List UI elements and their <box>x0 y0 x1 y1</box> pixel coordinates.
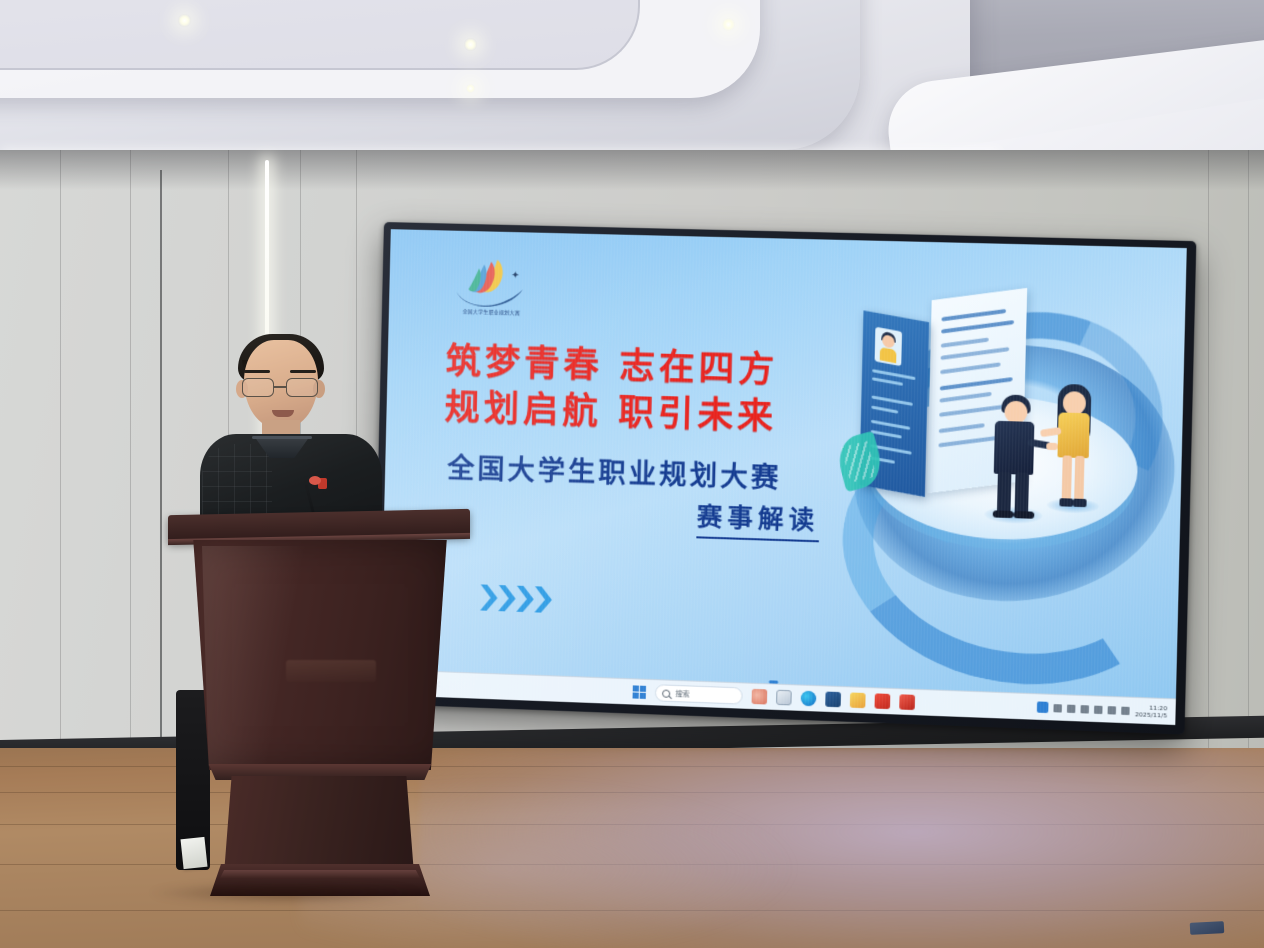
lectern-shadow <box>150 882 420 904</box>
chevron-right-icon <box>480 584 498 611</box>
taskbar-app-icon-1[interactable] <box>752 689 768 705</box>
chevron-right-icon <box>534 586 552 613</box>
lectern-emblem <box>286 660 376 682</box>
floor-object <box>1190 921 1225 935</box>
volume-icon[interactable] <box>1081 705 1090 713</box>
taskbar-center-group: 搜索 <box>632 683 915 711</box>
speaker-collar-trim <box>252 436 312 439</box>
store-icon[interactable] <box>825 692 841 708</box>
illustration-person-man <box>986 394 1043 520</box>
logo-caption: 全国大学生职业规划大赛 <box>452 308 531 317</box>
lectern-column <box>224 776 414 874</box>
clock-date: 2025/11/5 <box>1135 711 1167 719</box>
downlight-icon <box>464 38 477 51</box>
speaker-eyebrow-left <box>244 370 270 373</box>
slide-illustration <box>829 270 1180 667</box>
downlight-icon <box>178 14 191 27</box>
taskbar-clock[interactable]: 11:20 2025/11/5 <box>1135 704 1168 720</box>
battery-icon[interactable] <box>1094 705 1103 713</box>
taskbar-handle[interactable] <box>769 680 778 683</box>
chevron-up-icon[interactable] <box>1054 704 1063 712</box>
glasses-lens-left <box>242 378 274 397</box>
system-tray: 11:20 2025/11/5 <box>1037 700 1167 719</box>
downlight-icon <box>722 18 735 31</box>
ime-icon[interactable] <box>1108 706 1117 714</box>
slide-subtitle-secondary: 赛事解读 <box>696 497 820 542</box>
screen-panel: ✦ 全国大学生职业规划大赛 筑梦青春 志在四方 规划启航 职引未来 全国大学生职… <box>380 229 1187 725</box>
logo-sparkle-icon: ✦ <box>511 271 520 280</box>
illustration-person-woman <box>1047 384 1102 514</box>
chevron-right-icon <box>498 585 516 612</box>
slide-subtitle: 全国大学生职业规划大赛 <box>447 446 895 499</box>
wall-seam <box>160 170 162 770</box>
glasses-bridge <box>274 386 286 388</box>
chevron-right-icon <box>516 586 534 613</box>
file-explorer-icon[interactable] <box>776 690 792 706</box>
search-icon <box>662 689 670 697</box>
downlight-icon <box>466 84 475 93</box>
competition-logo: ✦ 全国大学生职业规划大赛 <box>452 258 532 322</box>
glasses-icon <box>240 378 322 398</box>
photo-scene: ✦ 全国大学生职业规划大赛 筑梦青春 志在四方 规划启航 职引未来 全国大学生职… <box>0 0 1264 948</box>
paper-on-floor <box>180 837 207 869</box>
tray-app-icon[interactable] <box>1037 701 1049 713</box>
presentation-screen[interactable]: ✦ 全国大学生职业规划大赛 筑梦青春 志在四方 规划启航 职引未来 全国大学生职… <box>373 222 1197 735</box>
wps-writer-icon[interactable] <box>875 693 891 709</box>
notifications-icon[interactable] <box>1121 706 1130 714</box>
search-placeholder: 搜索 <box>675 688 689 699</box>
slide: ✦ 全国大学生职业规划大赛 筑梦青春 志在四方 规划启航 职引未来 全国大学生职… <box>380 229 1187 725</box>
lectern-plinth-band <box>218 870 422 878</box>
mail-icon[interactable] <box>850 692 866 708</box>
avatar-body <box>880 347 897 363</box>
speaker-mouth <box>272 410 294 417</box>
speaker-eyebrow-right <box>290 370 316 373</box>
ceiling-recess <box>0 0 640 70</box>
search-input[interactable]: 搜索 <box>655 684 743 704</box>
microsoft-edge-icon[interactable] <box>801 691 817 707</box>
lectern-highlight <box>202 546 312 766</box>
start-button[interactable] <box>633 685 646 699</box>
screen-bezel: ✦ 全国大学生职业规划大赛 筑梦青春 志在四方 规划启航 职引未来 全国大学生职… <box>373 222 1197 735</box>
avatar <box>875 327 902 366</box>
headline-line-2: 规划启航 职引未来 <box>444 385 892 444</box>
slide-headline: 筑梦青春 志在四方 规划启航 职引未来 <box>444 339 893 444</box>
wall-top-shadow <box>0 150 1264 190</box>
logo-swoosh-icon <box>454 286 525 310</box>
chevron-decoration <box>480 584 552 613</box>
network-icon[interactable] <box>1067 704 1076 712</box>
glasses-lens-right <box>286 378 318 397</box>
headline-line-1: 筑梦青春 志在四方 <box>445 342 778 391</box>
microphone-icon <box>309 476 321 485</box>
lectern <box>168 512 470 902</box>
wps-presentation-icon[interactable] <box>899 694 915 710</box>
